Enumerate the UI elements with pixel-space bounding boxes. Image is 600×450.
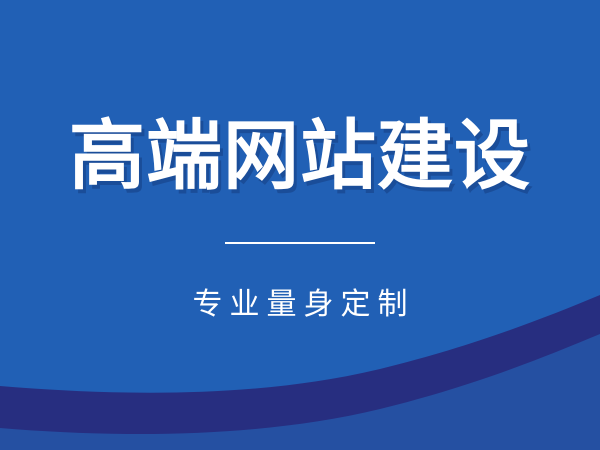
- page-subtitle: 专业量身定制: [0, 286, 600, 324]
- promo-banner: 高端网站建设 专业量身定制: [0, 0, 600, 450]
- page-title: 高端网站建设: [0, 112, 600, 202]
- title-divider: [225, 242, 375, 244]
- banner-content: 高端网站建设 专业量身定制: [0, 0, 600, 450]
